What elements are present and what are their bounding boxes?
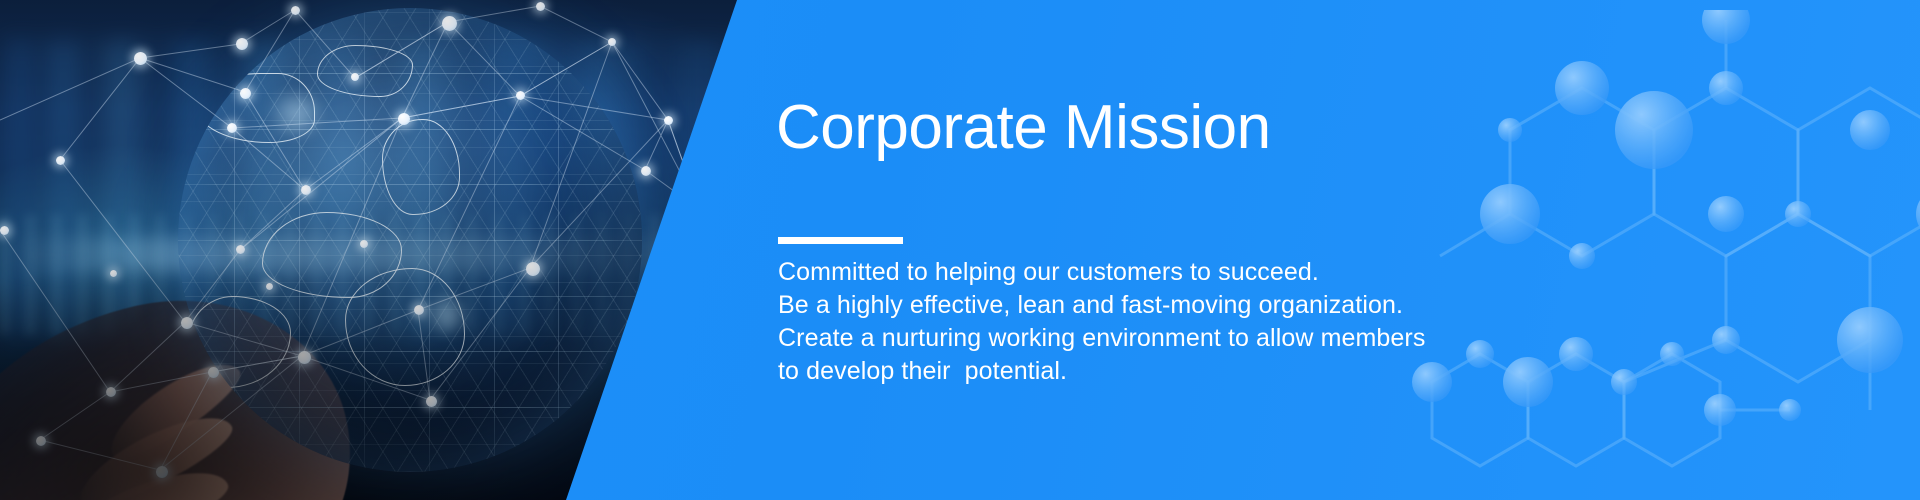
network-node [298,351,311,364]
network-node [291,6,300,15]
network-node [236,245,245,254]
network-node [664,116,673,125]
network-node [360,240,368,248]
network-node [516,91,525,100]
network-node [301,185,311,195]
network-node [208,367,219,378]
network-node [240,88,251,99]
network-node [134,52,147,65]
network-node [106,387,116,397]
network-node [236,38,248,50]
network-node [156,466,168,478]
mission-line: Committed to helping our customers to su… [778,256,1418,289]
network-node [526,262,540,276]
network-node [56,156,65,165]
network-node [398,113,410,125]
mission-line: Be a highly effective, lean and fast-mov… [778,289,1418,322]
network-node [181,317,193,329]
mission-line: Create a nurturing working environment t… [778,322,1418,355]
corporate-mission-banner: Corporate Mission Committed to helping o… [0,0,1920,500]
network-node [608,38,616,46]
title-divider [778,237,903,244]
page-title: Corporate Mission [776,95,1271,160]
network-node [227,123,237,133]
network-node [536,2,545,11]
network-node [426,396,437,407]
network-node [266,283,273,290]
network-node [0,226,9,235]
network-node [442,16,457,31]
network-node [110,270,117,277]
mission-statement-list: Committed to helping our customers to su… [778,256,1418,388]
network-node [641,166,651,176]
network-node [351,73,359,81]
banner-text-content: Corporate Mission Committed to helping o… [776,0,1476,500]
network-node [36,436,46,446]
network-node [414,305,424,315]
mission-line: to develop their potential. [778,355,1418,388]
